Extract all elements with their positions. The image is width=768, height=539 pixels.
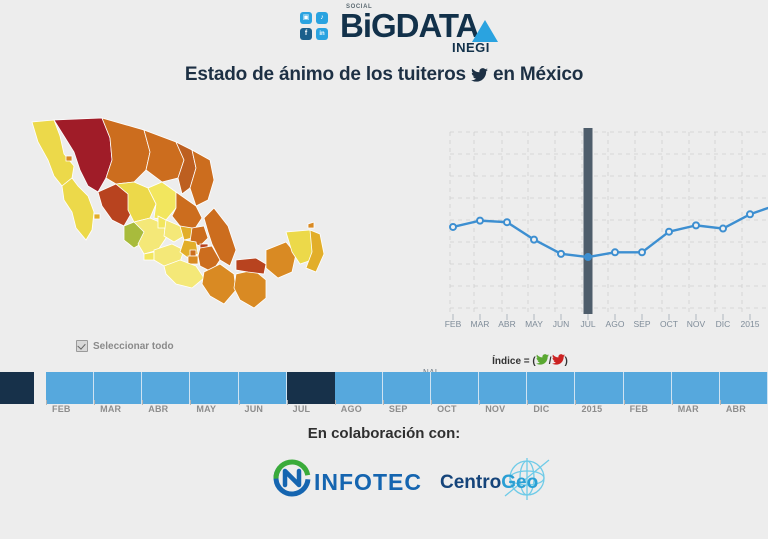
timeline-segment[interactable] — [335, 372, 383, 404]
timeline-tick — [94, 400, 95, 405]
map-island — [308, 222, 314, 228]
timeline-label: SEP — [389, 404, 408, 414]
infotec-wordmark: INFOTEC — [314, 469, 422, 496]
map-state — [190, 150, 214, 206]
timeline-segment[interactable] — [479, 372, 527, 404]
chart-x-label: AGO — [606, 319, 625, 328]
chart-data-point[interactable] — [693, 222, 699, 228]
timeline-tick — [142, 400, 143, 405]
chart-data-point[interactable] — [612, 249, 618, 255]
twitter-bird-icon — [471, 68, 488, 82]
timeline-segment[interactable] — [46, 372, 94, 404]
timeline-label: 2015 — [581, 404, 602, 414]
twitter-bird-green-icon — [536, 354, 549, 365]
mexico-choropleth-map[interactable] — [14, 108, 354, 338]
facebook-icon: f — [300, 28, 312, 40]
select-all-label: Seleccionar todo — [93, 341, 174, 352]
timeline-segment[interactable] — [720, 372, 768, 404]
select-all-checkbox[interactable] — [76, 340, 88, 352]
logo-inegi-text: INEGI — [452, 40, 490, 55]
timeline-label: FEB — [630, 404, 649, 414]
timeline-tick — [479, 400, 480, 405]
twitter-bird-red-icon — [552, 354, 565, 365]
linkedin-icon: in — [316, 28, 328, 40]
chart-x-label: SEP — [633, 319, 650, 328]
timeline-tick — [383, 400, 384, 405]
index-legend-suffix: ) — [565, 356, 568, 367]
collaboration-logos: INFOTEC CentroGeo — [0, 455, 768, 511]
chart-gridlines — [450, 132, 768, 314]
timeline-tick — [575, 400, 576, 405]
map-state — [62, 178, 94, 240]
timeline-tick — [672, 400, 673, 405]
centrogeo-text-geo: Geo — [501, 472, 538, 493]
timeline-label: DIC — [533, 404, 549, 414]
mexico-map-panel[interactable]: Seleccionar todo — [14, 108, 354, 358]
chart-data-point[interactable] — [558, 251, 564, 257]
map-state — [144, 130, 184, 182]
timeline-label: NOV — [485, 404, 505, 414]
timeline-labels: FEBMARABRMAYJUNJULAGOSEPOCTNOVDIC2015FEB… — [0, 404, 768, 420]
map-island — [66, 156, 72, 161]
bigdata-inegi-logo[interactable]: ▣ ♪ f in SOCIAL BiGDATA INEGI — [300, 4, 505, 54]
collaboration-title: En colaboración con: — [0, 425, 768, 442]
timeline-tick — [431, 400, 432, 405]
timeline-label: JUN — [245, 404, 264, 414]
chart-data-point[interactable] — [504, 219, 510, 225]
timeline-slider[interactable] — [0, 372, 768, 406]
timeline-segment[interactable] — [287, 372, 335, 404]
chart-x-label: DIC — [716, 319, 731, 328]
timeline-label: MAY — [196, 404, 216, 414]
map-state — [236, 258, 266, 274]
map-state — [234, 270, 266, 308]
chart-data-point[interactable] — [747, 211, 753, 217]
chart-data-point[interactable] — [666, 229, 672, 235]
timeline-label: OCT — [437, 404, 457, 414]
timeline-tick — [46, 400, 47, 405]
timeline-tick — [190, 400, 191, 405]
chart-data-point[interactable] — [639, 249, 645, 255]
timeline-label: FEB — [52, 404, 71, 414]
page-header: ▣ ♪ f in SOCIAL BiGDATA INEGI Estado de … — [0, 0, 768, 58]
index-legend-prefix: Índice = ( — [492, 356, 536, 367]
logo-triangle-icon — [472, 20, 498, 42]
timeline-tick — [720, 400, 721, 405]
select-all-control[interactable]: Seleccionar todo — [76, 340, 174, 352]
centrogeo-text-centro: Centro — [440, 472, 501, 493]
timeline-segment[interactable] — [527, 372, 575, 404]
national-index-line-chart[interactable]: FEBMARABRMAYJUNJULAGOSEPOCTNOVDIC2015FEB — [410, 128, 768, 328]
chart-data-point[interactable] — [531, 237, 537, 243]
infotec-mark-icon — [272, 458, 312, 498]
timeline-label: MAR — [100, 404, 121, 414]
chart-x-label: FEB — [445, 319, 462, 328]
timeline-label: JUL — [293, 404, 311, 414]
chart-data-point[interactable] — [477, 218, 483, 224]
chart-x-label: JUL — [580, 319, 595, 328]
chart-x-label: OCT — [660, 319, 678, 328]
infotec-logo[interactable]: INFOTEC — [272, 458, 312, 502]
timeline-segment[interactable] — [672, 372, 720, 404]
instagram-icon: ▣ — [300, 12, 312, 24]
line-chart-panel[interactable]: FEBMARABRMAYJUNJULAGOSEPOCTNOVDIC2015FEB… — [410, 128, 768, 350]
timeline-tick — [239, 400, 240, 405]
logo-brand-text: BiGDATA — [340, 9, 478, 42]
timeline-tick — [624, 400, 625, 405]
chart-data-point[interactable] — [720, 226, 726, 232]
chart-x-label: NOV — [687, 319, 706, 328]
timeline-segment[interactable] — [624, 372, 672, 404]
timeline-label: AGO — [341, 404, 362, 414]
timeline-segment[interactable] — [0, 372, 34, 404]
index-legend: Índice = (/) — [410, 354, 650, 367]
map-island — [94, 214, 100, 219]
page-title-before: Estado de ánimo de los tuiteros — [185, 64, 466, 85]
chart-x-label: JUN — [553, 319, 570, 328]
timeline-label: ABR — [726, 404, 746, 414]
timeline-tick — [335, 400, 336, 405]
timeline-segment[interactable] — [431, 372, 479, 404]
timeline-segment[interactable] — [190, 372, 238, 404]
chart-x-label: ABR — [498, 319, 515, 328]
chart-data-point[interactable] — [450, 224, 456, 230]
centrogeo-wordmark: CentroGeo — [440, 472, 538, 494]
timeline-tick — [527, 400, 528, 405]
timeline-segment[interactable] — [94, 372, 142, 404]
chart-time-cursor[interactable] — [584, 128, 593, 314]
timeline-segment[interactable] — [575, 372, 623, 404]
map-state — [188, 256, 198, 264]
map-state — [202, 264, 236, 304]
timeline-tick — [287, 400, 288, 405]
chart-data-points — [450, 202, 768, 260]
timeline-segment[interactable] — [142, 372, 190, 404]
map-state — [190, 250, 196, 256]
timeline-label: ABR — [148, 404, 168, 414]
chart-x-label: MAY — [525, 319, 543, 328]
twitter-icon: ♪ — [316, 12, 328, 24]
timeline-label: MAR — [678, 404, 699, 414]
chart-data-point[interactable] — [585, 254, 591, 260]
chart-x-axis-labels: FEBMARABRMAYJUNJULAGOSEPOCTNOVDIC2015FEB — [445, 319, 768, 328]
timeline-segment[interactable] — [239, 372, 287, 404]
chart-x-label: MAR — [471, 319, 490, 328]
timeline-segment[interactable] — [383, 372, 431, 404]
page-title: Estado de ánimo de los tuiteros en Méxic… — [0, 64, 768, 86]
chart-x-label: 2015 — [741, 319, 760, 328]
page-title-after: en México — [493, 64, 583, 85]
